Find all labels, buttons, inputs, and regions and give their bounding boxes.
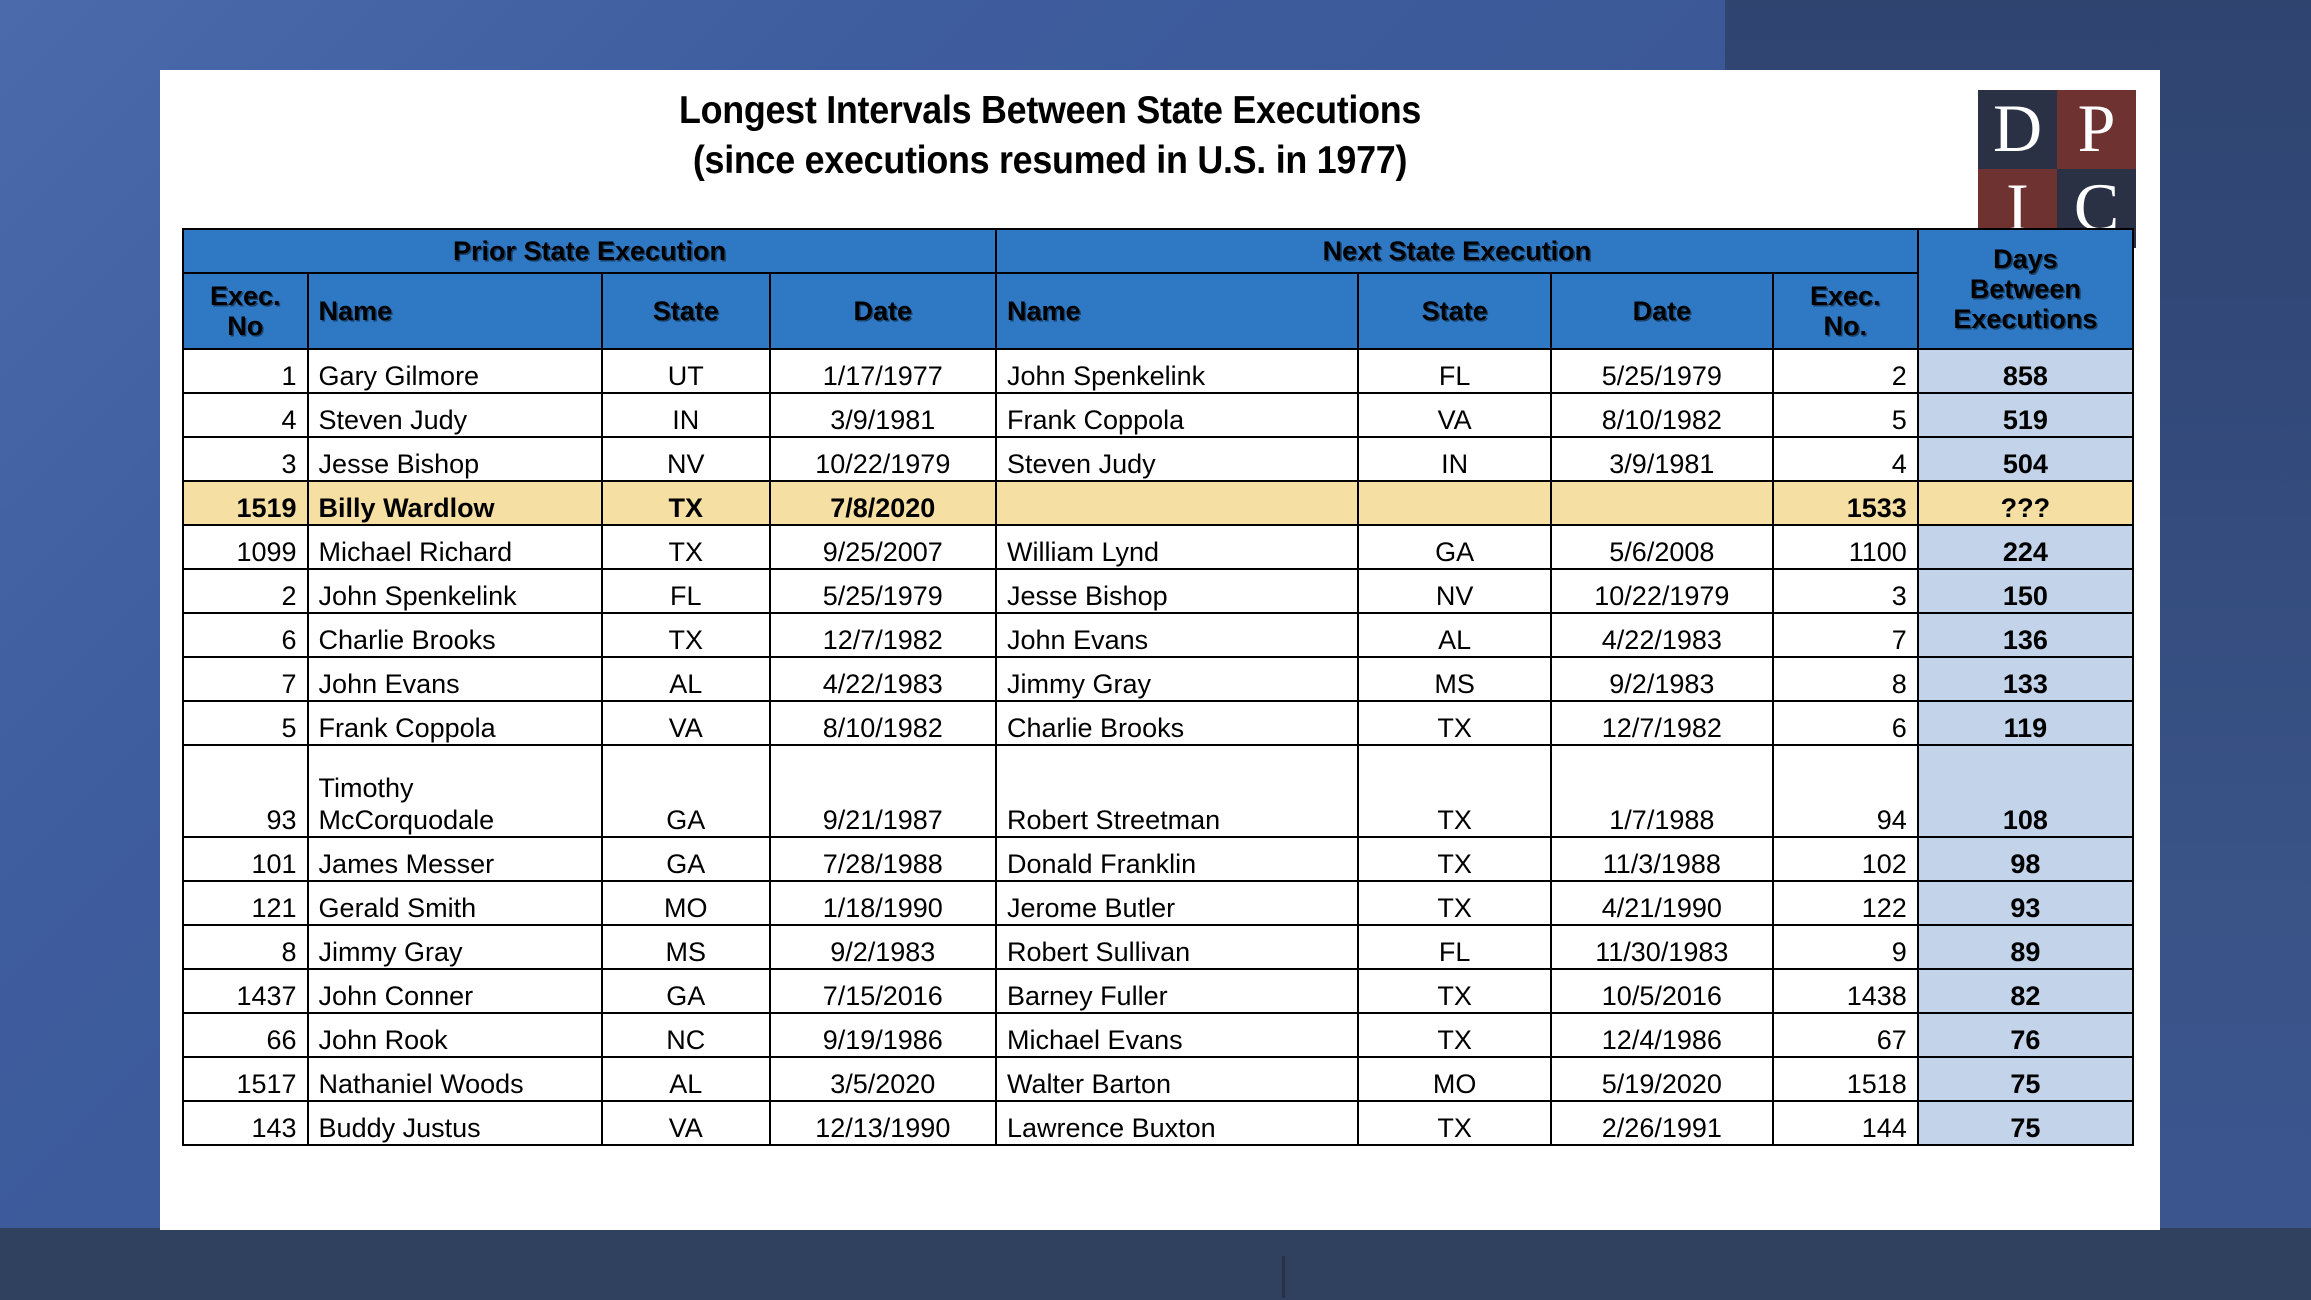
cell-days-between: 136 xyxy=(1918,613,2133,657)
cell-next-date: 10/22/1979 xyxy=(1551,569,1773,613)
cell-days-between: 89 xyxy=(1918,925,2133,969)
cell-next-name: Charlie Brooks xyxy=(996,701,1358,745)
col-next-date: Date xyxy=(1551,273,1773,349)
col-next-exec-no-line1: Exec. xyxy=(1784,281,1907,311)
cell-prior-state: GA xyxy=(602,837,770,881)
col-prior-exec-no-line2: No xyxy=(194,311,297,341)
cell-days-between: 75 xyxy=(1918,1057,2133,1101)
cell-next-exec-no: 1533 xyxy=(1773,481,1918,525)
cell-prior-exec-no: 1099 xyxy=(183,525,308,569)
panel-connector-tick xyxy=(1282,1256,1285,1298)
column-header-row: Exec. No Name State Date Name State Date… xyxy=(183,273,2133,349)
cell-next-state: TX xyxy=(1358,1101,1551,1145)
table-row: 121Gerald SmithMO1/18/1990Jerome ButlerT… xyxy=(183,881,2133,925)
col-days-line2: Between xyxy=(1929,274,2122,304)
logo-letter-d: D xyxy=(1978,90,2057,169)
col-next-state: State xyxy=(1358,273,1551,349)
cell-prior-name: Steven Judy xyxy=(308,393,602,437)
cell-next-name: Michael Evans xyxy=(996,1013,1358,1057)
cell-prior-name: Gary Gilmore xyxy=(308,349,602,393)
cell-next-name: Robert Streetman xyxy=(996,745,1358,837)
cell-days-between: 75 xyxy=(1918,1101,2133,1145)
col-next-exec-no-line2: No. xyxy=(1784,311,1907,341)
cell-prior-state: AL xyxy=(602,657,770,701)
cell-next-date: 11/30/1983 xyxy=(1551,925,1773,969)
cell-next-state: TX xyxy=(1358,881,1551,925)
cell-next-exec-no: 2 xyxy=(1773,349,1918,393)
cell-prior-exec-no: 6 xyxy=(183,613,308,657)
cell-next-state: NV xyxy=(1358,569,1551,613)
cell-prior-exec-no: 121 xyxy=(183,881,308,925)
cell-days-between: 150 xyxy=(1918,569,2133,613)
cell-prior-state: MO xyxy=(602,881,770,925)
cell-prior-name: Jimmy Gray xyxy=(308,925,602,969)
cell-prior-date: 1/18/1990 xyxy=(770,881,996,925)
cell-prior-date: 7/28/1988 xyxy=(770,837,996,881)
cell-next-exec-no: 3 xyxy=(1773,569,1918,613)
cell-next-date xyxy=(1551,481,1773,525)
cell-next-name: Steven Judy xyxy=(996,437,1358,481)
table-head: Prior State Execution Next State Executi… xyxy=(183,229,2133,349)
cell-next-state: VA xyxy=(1358,393,1551,437)
cell-next-date: 4/22/1983 xyxy=(1551,613,1773,657)
cell-prior-exec-no: 143 xyxy=(183,1101,308,1145)
col-prior-exec-no-line1: Exec. xyxy=(194,281,297,311)
cell-next-date: 3/9/1981 xyxy=(1551,437,1773,481)
table-row: 8Jimmy GrayMS9/2/1983Robert SullivanFL11… xyxy=(183,925,2133,969)
cell-prior-state: AL xyxy=(602,1057,770,1101)
cell-next-name: Barney Fuller xyxy=(996,969,1358,1013)
table-row: 6Charlie BrooksTX12/7/1982John EvansAL4/… xyxy=(183,613,2133,657)
table-row: 101James MesserGA7/28/1988Donald Frankli… xyxy=(183,837,2133,881)
cell-next-name: Jimmy Gray xyxy=(996,657,1358,701)
page-title: Longest Intervals Between State Executio… xyxy=(231,86,1869,136)
cell-next-exec-no: 94 xyxy=(1773,745,1918,837)
cell-prior-exec-no: 1437 xyxy=(183,969,308,1013)
cell-next-state: FL xyxy=(1358,349,1551,393)
cell-next-date: 5/6/2008 xyxy=(1551,525,1773,569)
cell-prior-name: Billy Wardlow xyxy=(308,481,602,525)
col-prior-name: Name xyxy=(308,273,602,349)
cell-prior-date: 4/22/1983 xyxy=(770,657,996,701)
logo-letter-p: P xyxy=(2057,90,2136,169)
cell-next-name: Lawrence Buxton xyxy=(996,1101,1358,1145)
cell-prior-date: 1/17/1977 xyxy=(770,349,996,393)
cell-prior-date: 8/10/1982 xyxy=(770,701,996,745)
cell-prior-exec-no: 1519 xyxy=(183,481,308,525)
cell-next-state xyxy=(1358,481,1551,525)
cell-next-name: Walter Barton xyxy=(996,1057,1358,1101)
cell-prior-date: 3/5/2020 xyxy=(770,1057,996,1101)
cell-next-exec-no: 144 xyxy=(1773,1101,1918,1145)
cell-prior-exec-no: 7 xyxy=(183,657,308,701)
table-row: 1519Billy WardlowTX7/8/20201533??? xyxy=(183,481,2133,525)
cell-next-date: 9/2/1983 xyxy=(1551,657,1773,701)
cell-days-between: 82 xyxy=(1918,969,2133,1013)
cell-prior-name: Nathaniel Woods xyxy=(308,1057,602,1101)
col-days-between: Days Between Executions xyxy=(1918,229,2133,349)
cell-days-between: 504 xyxy=(1918,437,2133,481)
col-days-line3: Executions xyxy=(1929,304,2122,334)
cell-prior-date: 12/13/1990 xyxy=(770,1101,996,1145)
cell-next-name: Donald Franklin xyxy=(996,837,1358,881)
cell-next-date: 10/5/2016 xyxy=(1551,969,1773,1013)
slide-bottom-band xyxy=(0,1228,2311,1300)
cell-next-exec-no: 1438 xyxy=(1773,969,1918,1013)
col-days-line1: Days xyxy=(1929,244,2122,274)
cell-prior-exec-no: 8 xyxy=(183,925,308,969)
cell-prior-exec-no: 2 xyxy=(183,569,308,613)
cell-next-exec-no: 1518 xyxy=(1773,1057,1918,1101)
executions-table: Prior State Execution Next State Executi… xyxy=(182,228,2134,1146)
cell-next-name: John Spenkelink xyxy=(996,349,1358,393)
cell-next-date: 12/7/1982 xyxy=(1551,701,1773,745)
cell-prior-exec-no: 66 xyxy=(183,1013,308,1057)
col-next-name: Name xyxy=(996,273,1358,349)
cell-next-name: William Lynd xyxy=(996,525,1358,569)
col-prior-date: Date xyxy=(770,273,996,349)
cell-prior-name: John Rook xyxy=(308,1013,602,1057)
cell-prior-name: Michael Richard xyxy=(308,525,602,569)
cell-days-between: ??? xyxy=(1918,481,2133,525)
cell-next-state: TX xyxy=(1358,745,1551,837)
cell-prior-state: FL xyxy=(602,569,770,613)
cell-days-between: 858 xyxy=(1918,349,2133,393)
cell-next-state: TX xyxy=(1358,837,1551,881)
cell-days-between: 98 xyxy=(1918,837,2133,881)
table-row: 5Frank CoppolaVA8/10/1982Charlie BrooksT… xyxy=(183,701,2133,745)
cell-prior-date: 9/19/1986 xyxy=(770,1013,996,1057)
group-header-row: Prior State Execution Next State Executi… xyxy=(183,229,2133,273)
cell-prior-date: 5/25/1979 xyxy=(770,569,996,613)
cell-prior-name: Frank Coppola xyxy=(308,701,602,745)
header-area: Longest Intervals Between State Executio… xyxy=(160,70,2160,228)
cell-next-exec-no: 5 xyxy=(1773,393,1918,437)
col-prior-exec-no: Exec. No xyxy=(183,273,308,349)
cell-next-exec-no: 9 xyxy=(1773,925,1918,969)
page-subtitle: (since executions resumed in U.S. in 197… xyxy=(231,136,1869,186)
cell-prior-state: GA xyxy=(602,745,770,837)
cell-next-name xyxy=(996,481,1358,525)
cell-prior-state: VA xyxy=(602,701,770,745)
cell-prior-state: TX xyxy=(602,525,770,569)
cell-next-exec-no: 67 xyxy=(1773,1013,1918,1057)
cell-next-state: TX xyxy=(1358,701,1551,745)
cell-prior-date: 12/7/1982 xyxy=(770,613,996,657)
table-row: 1099Michael RichardTX9/25/2007William Ly… xyxy=(183,525,2133,569)
cell-next-state: IN xyxy=(1358,437,1551,481)
cell-next-state: AL xyxy=(1358,613,1551,657)
cell-next-exec-no: 122 xyxy=(1773,881,1918,925)
dpic-logo: D P I C xyxy=(1978,90,2136,248)
cell-prior-date: 3/9/1981 xyxy=(770,393,996,437)
cell-next-exec-no: 1100 xyxy=(1773,525,1918,569)
cell-prior-state: NV xyxy=(602,437,770,481)
col-next-exec-no: Exec. No. xyxy=(1773,273,1918,349)
slide-canvas: Longest Intervals Between State Executio… xyxy=(0,0,2311,1300)
cell-next-exec-no: 7 xyxy=(1773,613,1918,657)
table-row: 143Buddy JustusVA12/13/1990Lawrence Buxt… xyxy=(183,1101,2133,1145)
cell-prior-exec-no: 93 xyxy=(183,745,308,837)
cell-days-between: 119 xyxy=(1918,701,2133,745)
cell-prior-name: John Spenkelink xyxy=(308,569,602,613)
table-row: 93TimothyMcCorquodaleGA9/21/1987Robert S… xyxy=(183,745,2133,837)
content-panel: Longest Intervals Between State Executio… xyxy=(160,70,2160,1230)
cell-prior-state: MS xyxy=(602,925,770,969)
cell-next-date: 5/25/1979 xyxy=(1551,349,1773,393)
cell-next-name: Jerome Butler xyxy=(996,881,1358,925)
cell-next-date: 11/3/1988 xyxy=(1551,837,1773,881)
cell-next-date: 8/10/1982 xyxy=(1551,393,1773,437)
group-header-prior: Prior State Execution xyxy=(183,229,996,273)
cell-prior-state: NC xyxy=(602,1013,770,1057)
cell-prior-state: TX xyxy=(602,613,770,657)
cell-prior-state: UT xyxy=(602,349,770,393)
cell-prior-exec-no: 1517 xyxy=(183,1057,308,1101)
cell-days-between: 76 xyxy=(1918,1013,2133,1057)
table-row: 2John SpenkelinkFL5/25/1979Jesse BishopN… xyxy=(183,569,2133,613)
cell-next-state: FL xyxy=(1358,925,1551,969)
cell-prior-exec-no: 4 xyxy=(183,393,308,437)
cell-prior-name: TimothyMcCorquodale xyxy=(308,745,602,837)
cell-prior-state: GA xyxy=(602,969,770,1013)
cell-next-date: 4/21/1990 xyxy=(1551,881,1773,925)
col-prior-state: State xyxy=(602,273,770,349)
table-row: 4Steven JudyIN3/9/1981Frank CoppolaVA8/1… xyxy=(183,393,2133,437)
cell-next-date: 1/7/1988 xyxy=(1551,745,1773,837)
cell-next-exec-no: 4 xyxy=(1773,437,1918,481)
cell-prior-state: TX xyxy=(602,481,770,525)
cell-prior-state: IN xyxy=(602,393,770,437)
cell-prior-name: James Messer xyxy=(308,837,602,881)
cell-prior-date: 9/2/1983 xyxy=(770,925,996,969)
cell-next-name: John Evans xyxy=(996,613,1358,657)
cell-next-exec-no: 8 xyxy=(1773,657,1918,701)
cell-prior-date: 10/22/1979 xyxy=(770,437,996,481)
title-block: Longest Intervals Between State Executio… xyxy=(160,86,1940,186)
cell-prior-date: 7/8/2020 xyxy=(770,481,996,525)
cell-prior-exec-no: 101 xyxy=(183,837,308,881)
cell-days-between: 93 xyxy=(1918,881,2133,925)
cell-prior-exec-no: 1 xyxy=(183,349,308,393)
cell-next-exec-no: 6 xyxy=(1773,701,1918,745)
group-header-next: Next State Execution xyxy=(996,229,1918,273)
cell-prior-date: 9/21/1987 xyxy=(770,745,996,837)
table-row: 66John RookNC9/19/1986Michael EvansTX12/… xyxy=(183,1013,2133,1057)
cell-prior-date: 7/15/2016 xyxy=(770,969,996,1013)
cell-prior-exec-no: 3 xyxy=(183,437,308,481)
table-row: 1517Nathaniel WoodsAL3/5/2020Walter Bart… xyxy=(183,1057,2133,1101)
table-row: 3Jesse BishopNV10/22/1979Steven JudyIN3/… xyxy=(183,437,2133,481)
cell-prior-name: Charlie Brooks xyxy=(308,613,602,657)
table-row: 1437John ConnerGA7/15/2016Barney FullerT… xyxy=(183,969,2133,1013)
cell-days-between: 224 xyxy=(1918,525,2133,569)
cell-next-date: 2/26/1991 xyxy=(1551,1101,1773,1145)
cell-next-state: MO xyxy=(1358,1057,1551,1101)
cell-next-state: MS xyxy=(1358,657,1551,701)
cell-next-exec-no: 102 xyxy=(1773,837,1918,881)
cell-days-between: 133 xyxy=(1918,657,2133,701)
cell-next-date: 12/4/1986 xyxy=(1551,1013,1773,1057)
cell-next-name: Robert Sullivan xyxy=(996,925,1358,969)
table-body: 1Gary GilmoreUT1/17/1977John SpenkelinkF… xyxy=(183,349,2133,1145)
cell-prior-name: Jesse Bishop xyxy=(308,437,602,481)
cell-next-state: GA xyxy=(1358,525,1551,569)
cell-next-name: Frank Coppola xyxy=(996,393,1358,437)
cell-next-state: TX xyxy=(1358,1013,1551,1057)
table-row: 1Gary GilmoreUT1/17/1977John SpenkelinkF… xyxy=(183,349,2133,393)
cell-next-date: 5/19/2020 xyxy=(1551,1057,1773,1101)
cell-prior-state: VA xyxy=(602,1101,770,1145)
table-row: 7John EvansAL4/22/1983Jimmy GrayMS9/2/19… xyxy=(183,657,2133,701)
cell-days-between: 108 xyxy=(1918,745,2133,837)
cell-days-between: 519 xyxy=(1918,393,2133,437)
cell-prior-name: Buddy Justus xyxy=(308,1101,602,1145)
cell-next-state: TX xyxy=(1358,969,1551,1013)
cell-prior-exec-no: 5 xyxy=(183,701,308,745)
cell-next-name: Jesse Bishop xyxy=(996,569,1358,613)
cell-prior-name: John Conner xyxy=(308,969,602,1013)
cell-prior-date: 9/25/2007 xyxy=(770,525,996,569)
cell-prior-name: Gerald Smith xyxy=(308,881,602,925)
cell-prior-name: John Evans xyxy=(308,657,602,701)
